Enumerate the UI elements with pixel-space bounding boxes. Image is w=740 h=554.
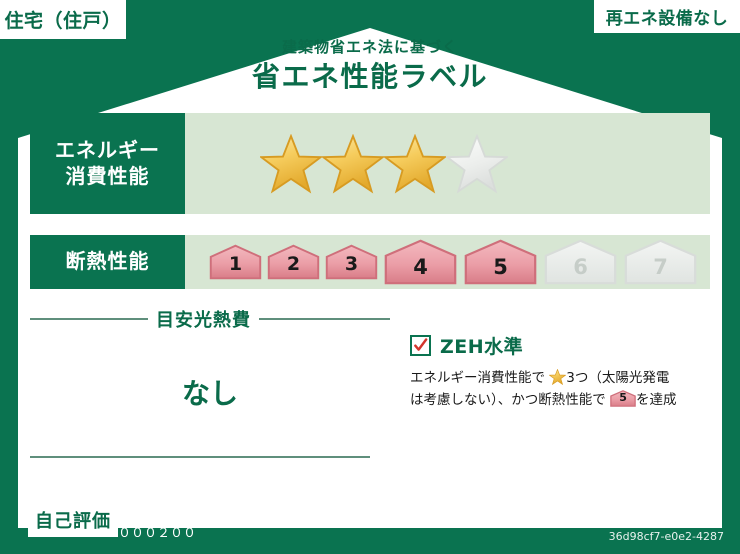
house-icon-inline-value: 5 [610, 389, 636, 407]
zeh-desc-part3: を達成 [636, 392, 677, 408]
star-icon-filled-3 [384, 134, 446, 194]
house-level-value: 5 [493, 255, 508, 285]
badge-renewable-energy: 再エネ設備なし [594, 0, 740, 33]
house-icon-level-4: 4 [383, 239, 458, 285]
checkmark-icon [410, 335, 431, 356]
row-label-energy-line1: エネルギー [55, 138, 160, 164]
zeh-block: ZEH水準 エネルギー消費性能で 3つ（太陽光発電 は考慮しない）、かつ断熱性能… [390, 300, 710, 458]
zeh-title-row: ZEH水準 [410, 332, 710, 359]
utility-cost-heading: 目安光熱費 [30, 306, 390, 332]
utility-cost-label: 目安光熱費 [156, 306, 251, 332]
energy-label-card: 住宅（住戸） 再エネ設備なし 建築物省エネ法に基づく 省エネ性能ラベル エネルギ… [0, 0, 740, 554]
utility-cost-value: なし [30, 372, 390, 412]
insulation-level-scale: 1 2 3 4 [185, 235, 710, 289]
page-subtitle: 建築物省エネ法に基づく [0, 38, 740, 58]
evaluation-date: 評価日 2026年1月23日 [558, 506, 724, 527]
star-icon-empty-4 [446, 134, 508, 194]
row-insulation-performance: 断熱性能 [30, 235, 710, 289]
row-label-insulation: 断熱性能 [30, 235, 185, 289]
footer-left: 自己評価 一宮市北方町北方第2(2棟)2号棟２７６６４０００２００ [28, 504, 378, 544]
house-level-value: 2 [287, 253, 300, 280]
house-level-value: 6 [573, 255, 588, 285]
house-icon-level-2: 2 [267, 244, 320, 280]
star-icon-inline [549, 369, 566, 385]
house-icon-level-5: 5 [463, 239, 538, 285]
footer: 自己評価 一宮市北方町北方第2(2棟)2号棟２７６６４０００２００ 評価日 20… [0, 488, 740, 554]
title-group: 建築物省エネ法に基づく 省エネ性能ラベル [0, 38, 740, 95]
performance-rows: エネルギー 消費性能 [30, 113, 710, 289]
house-level-value: 4 [413, 255, 428, 285]
footer-right: 評価日 2026年1月23日 36d98cf7-e0e2-4287 [558, 506, 724, 543]
property-address: 一宮市北方町北方第2(2棟)2号棟２７６６４０００２００ [118, 504, 378, 544]
divider-bottom [30, 456, 370, 458]
divider-left [30, 318, 148, 320]
house-icon-level-1: 1 [209, 244, 262, 280]
divider-right [259, 318, 390, 320]
house-icon-inline: 5 [610, 390, 636, 407]
house-level-value: 1 [229, 253, 242, 280]
house-icon-level-3: 3 [325, 244, 378, 280]
house-icon-level-7: 7 [623, 239, 698, 285]
house-level-value: 7 [653, 255, 668, 285]
zeh-desc-star-count: 3つ（太陽光発電 [566, 370, 669, 386]
row-energy-performance: エネルギー 消費性能 [30, 113, 710, 214]
self-evaluation-badge: 自己評価 [28, 504, 118, 537]
star-icon-filled-2 [322, 134, 384, 194]
lower-section: 目安光熱費 なし ZEH水準 エネルギー消費性能で [30, 300, 710, 458]
zeh-standard-label: ZEH水準 [440, 332, 523, 359]
zeh-desc-part1: エネルギー消費性能で [410, 370, 545, 386]
zeh-description: エネルギー消費性能で 3つ（太陽光発電 は考慮しない）、かつ断熱性能で 5 を達… [410, 367, 710, 412]
utility-cost-block: 目安光熱費 なし [30, 300, 390, 458]
energy-star-rating [185, 113, 710, 214]
zeh-desc-part2: は考慮しない）、かつ断熱性能で [410, 392, 606, 408]
badge-building-type: 住宅（住戸） [0, 0, 126, 39]
house-level-value: 3 [345, 253, 358, 280]
row-label-energy-line2: 消費性能 [66, 164, 150, 190]
row-label-energy: エネルギー 消費性能 [30, 113, 185, 214]
house-icon-level-6: 6 [543, 239, 618, 285]
page-title: 省エネ性能ラベル [0, 58, 740, 96]
document-id: 36d98cf7-e0e2-4287 [558, 530, 724, 543]
star-icon-filled-1 [260, 134, 322, 194]
